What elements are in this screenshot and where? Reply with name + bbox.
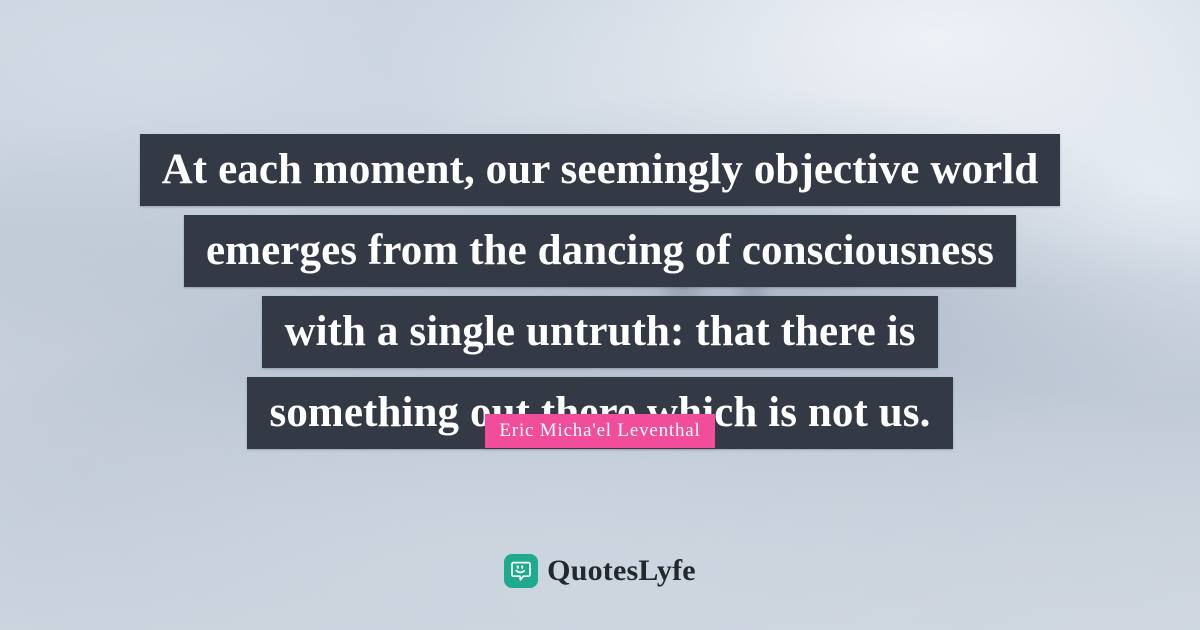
quote-poster: At each moment, our seemingly objective … <box>0 0 1200 630</box>
quote-line-2: emerges from the dancing of consciousnes… <box>184 215 1016 287</box>
quote-line-1: At each moment, our seemingly objective … <box>140 134 1061 206</box>
site-logo[interactable]: QuotesLyfe <box>0 554 1200 588</box>
author-name-badge: Eric Micha'el Leventhal <box>485 414 714 448</box>
site-logo-text: QuotesLyfe <box>547 556 696 586</box>
quote-line-3: with a single untruth: that there is <box>262 296 937 368</box>
quote-text-block: At each moment, our seemingly objective … <box>0 134 1200 458</box>
author-attribution: Eric Micha'el Leventhal <box>0 414 1200 448</box>
quote-smiley-icon <box>504 554 538 588</box>
